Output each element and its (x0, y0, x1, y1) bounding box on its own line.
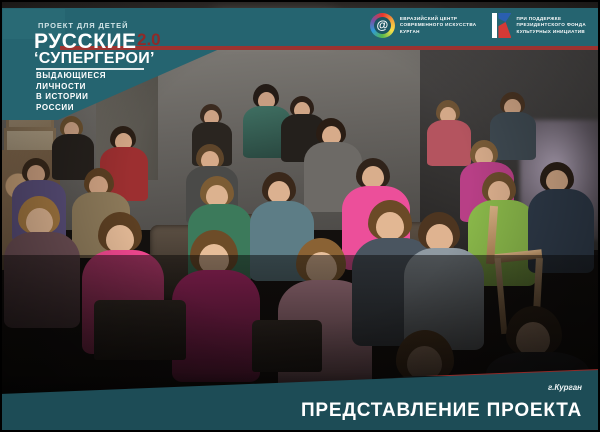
logo-strip: @ ЕВРАЗИЙСКИЙ ЦЕНТР СОВРЕМЕННОГО ИСКУССТ… (370, 13, 586, 38)
at-glyph: @ (374, 17, 391, 34)
subtitle-text: ВЫДАЮЩИЕСЯ ЛИЧНОСТИ В ИСТОРИИ РОССИИ (36, 71, 106, 113)
title-line-2: ‘СУПЕРГЕРОИ’ (34, 50, 155, 68)
logo-eurasian-center: @ ЕВРАЗИЙСКИЙ ЦЕНТР СОВРЕМЕННОГО ИСКУССТ… (370, 13, 477, 38)
kicker-text: ПРОЕКТ ДЛЯ ДЕТЕЙ (38, 21, 128, 30)
logo-fund-text: ПРИ ПОДДЕРЖКЕ ПРЕЗИДЕНТСКОГО ФОНДА КУЛЬТ… (516, 16, 586, 35)
logo-presidential-fund: ПРИ ПОДДЕРЖКЕ ПРЕЗИДЕНТСКОГО ФОНДА КУЛЬТ… (492, 13, 586, 38)
flag-icon (492, 13, 511, 38)
version-label: 2.0 (137, 30, 161, 50)
title-divider (36, 68, 144, 70)
footer-caption: ПРЕДСТАВЛЕНИЕ ПРОЕКТА (301, 400, 582, 422)
at-sign-icon: @ (370, 13, 395, 38)
city-label: г.Курган (548, 383, 582, 392)
title-block: ПРОЕКТ ДЛЯ ДЕТЕЙ РУССКИЕ 2.0 ‘СУПЕРГЕРОИ… (0, 8, 250, 124)
logo-eurasian-text: ЕВРАЗИЙСКИЙ ЦЕНТР СОВРЕМЕННОГО ИСКУССТВА… (400, 16, 477, 35)
project-poster: ПРОЕКТ ДЛЯ ДЕТЕЙ РУССКИЕ 2.0 ‘СУПЕРГЕРОИ… (0, 0, 600, 432)
